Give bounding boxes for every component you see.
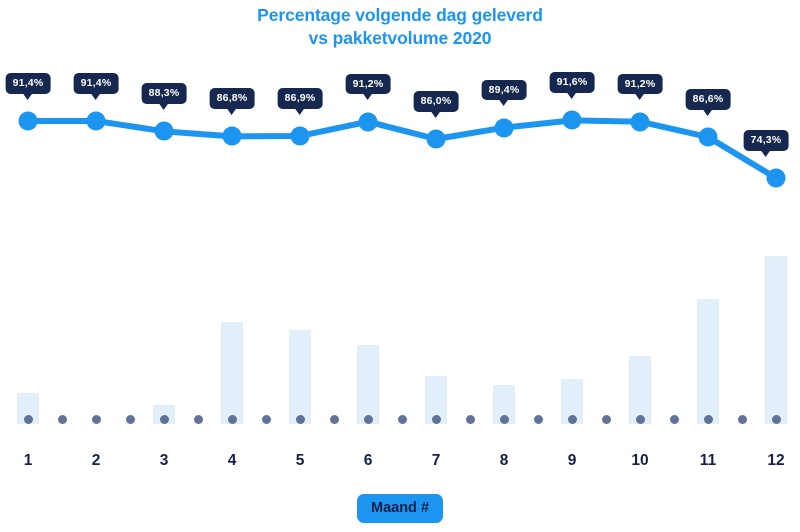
data-label-tooltip: 86,9% bbox=[278, 88, 323, 109]
x-axis-ticks: 123456789101112 bbox=[0, 452, 800, 478]
data-label-tooltip: 86,0% bbox=[414, 91, 459, 112]
chart-title: Percentage volgende dag geleverd vs pakk… bbox=[0, 4, 800, 51]
chart-root: Percentage volgende dag geleverd vs pakk… bbox=[0, 0, 800, 532]
data-labels-layer: 91,4%91,4%88,3%86,8%86,9%91,2%86,0%89,4%… bbox=[0, 60, 800, 420]
data-label-tooltip: 88,3% bbox=[142, 83, 187, 104]
data-label-tooltip: 91,6% bbox=[550, 72, 595, 93]
data-label-tooltip: 89,4% bbox=[482, 80, 527, 101]
data-label-tooltip: 91,2% bbox=[346, 74, 391, 95]
x-axis-tick: 2 bbox=[92, 452, 101, 470]
x-axis-tick: 5 bbox=[296, 452, 305, 470]
x-axis-label-badge: Maand # bbox=[357, 494, 443, 523]
x-axis-tick: 12 bbox=[767, 452, 784, 470]
data-label-tooltip: 86,8% bbox=[210, 88, 255, 109]
x-axis-tick: 6 bbox=[364, 452, 373, 470]
data-label-tooltip: 86,6% bbox=[686, 89, 731, 110]
x-axis-tick: 3 bbox=[160, 452, 169, 470]
data-label-tooltip: 74,3% bbox=[744, 130, 789, 151]
data-label-tooltip: 91,4% bbox=[6, 73, 51, 94]
x-axis-tick: 1 bbox=[24, 452, 33, 470]
plot-area: 91,4%91,4%88,3%86,8%86,9%91,2%86,0%89,4%… bbox=[0, 60, 800, 420]
x-axis-tick: 11 bbox=[700, 452, 716, 470]
x-axis-tick: 10 bbox=[631, 452, 648, 470]
x-axis-tick: 7 bbox=[432, 452, 441, 470]
x-axis-tick: 4 bbox=[228, 452, 237, 470]
x-axis-tick: 8 bbox=[500, 452, 509, 470]
data-label-tooltip: 91,2% bbox=[618, 74, 663, 95]
x-axis-tick: 9 bbox=[568, 452, 577, 470]
data-label-tooltip: 91,4% bbox=[74, 73, 119, 94]
